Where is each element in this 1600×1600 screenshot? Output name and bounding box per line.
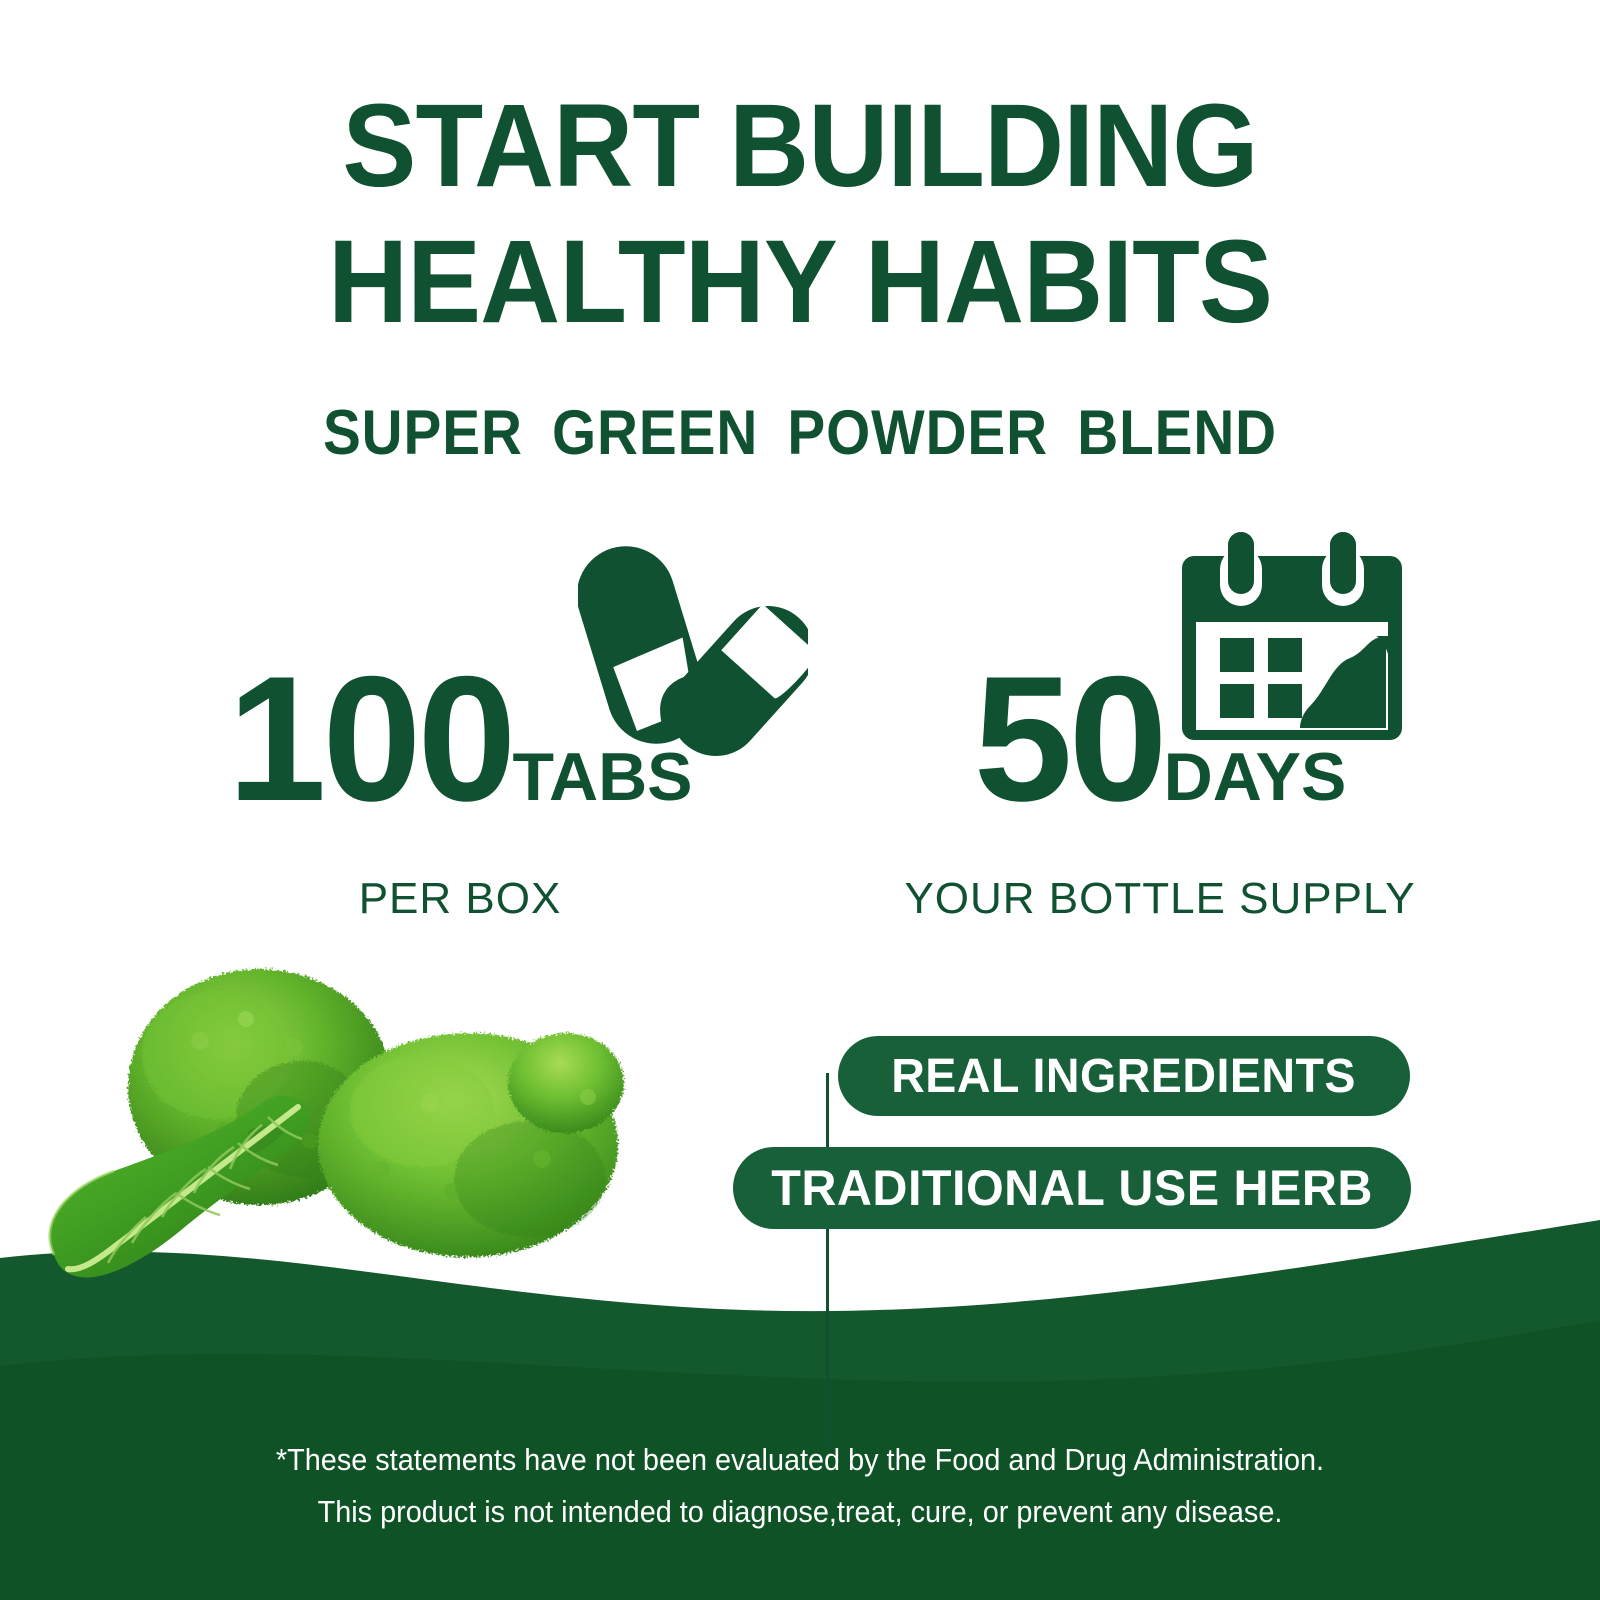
disclaimer: *These statements have not been evaluate… [56,1434,1544,1538]
page-title: START BUILDING HEALTHY HABITS [48,78,1552,350]
stat-days: 50 DAYS YOUR BOTTLE SUPPLY [880,520,1440,940]
stat-tabs-unit: TABS [512,743,692,811]
stat-days-value: 50 DAYS [880,650,1440,828]
stat-days-number: 50 [974,650,1164,828]
headline-line-2: HEALTHY HABITS [48,214,1552,350]
stat-tabs-caption: PER BOX [110,875,810,923]
stat-days-caption: YOUR BOTTLE SUPPLY [880,875,1440,923]
headline-line-1: START BUILDING [48,78,1552,214]
badge-real-ingredients[interactable]: REAL INGREDIENTS [838,1036,1410,1116]
badge-traditional-use-herb-label: TRADITIONAL USE HERB [771,1159,1373,1217]
subtitle: SUPER GREEN POWDER BLEND [80,398,1520,468]
badge-traditional-use-herb[interactable]: TRADITIONAL USE HERB [733,1147,1411,1229]
stats-divider [826,1073,829,1451]
stat-tabs-value: 100 TABS [110,650,810,828]
broccoli-with-leaf-photo [10,955,670,1305]
badge-real-ingredients-label: REAL INGREDIENTS [892,1049,1357,1104]
stat-tabs: 100 TABS PER BOX [110,520,810,940]
stat-days-unit: DAYS [1164,743,1347,811]
promo-graphic: START BUILDING HEALTHY HABITS SUPER GREE… [0,0,1600,1600]
disclaimer-line-2: This product is not intended to diagnose… [56,1486,1544,1538]
disclaimer-line-1: *These statements have not been evaluate… [56,1434,1544,1486]
stats-row: 100 TABS PER BOX [0,520,1600,940]
stat-tabs-number: 100 [227,650,512,828]
